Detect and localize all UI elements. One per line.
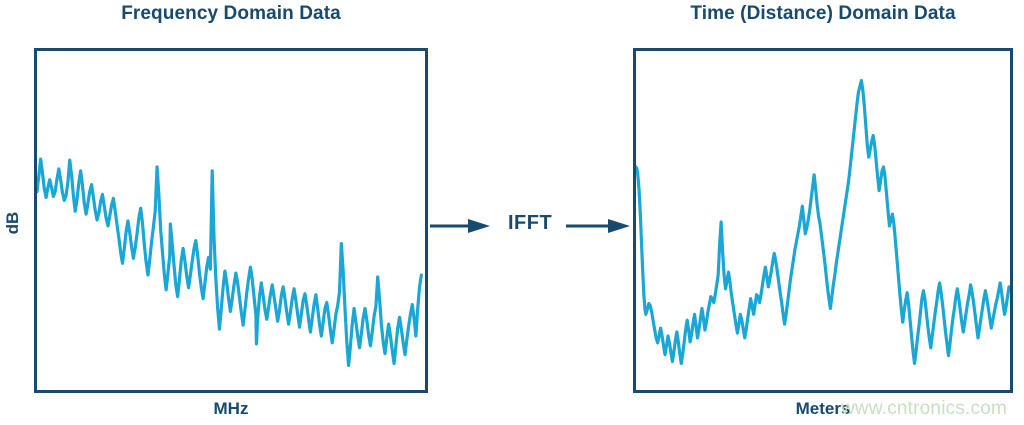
left-chart-y-axis-label: dB (3, 203, 23, 243)
ifft-label: IFFT (508, 212, 552, 235)
time-distance-domain-trace-svg (636, 51, 1010, 390)
site-watermark: www.cntronics.com (841, 398, 1007, 420)
ifft-transform-group: IFFT (430, 212, 632, 240)
time-distance-domain-trace (636, 80, 1009, 363)
arrow-right-icon (430, 218, 492, 234)
left-chart-title: Frequency Domain Data (34, 3, 428, 25)
left-chart-x-axis-label: MHz (34, 399, 428, 419)
arrow-right-icon (566, 218, 632, 234)
right-chart-title: Time (Distance) Domain Data (633, 3, 1013, 25)
frequency-domain-trace-svg (37, 51, 425, 390)
figure-canvas: Frequency Domain Data dB MHz IFFT Time (… (0, 0, 1024, 425)
time-distance-domain-plot (633, 48, 1013, 393)
frequency-domain-plot (34, 48, 428, 393)
frequency-domain-trace (37, 159, 421, 365)
